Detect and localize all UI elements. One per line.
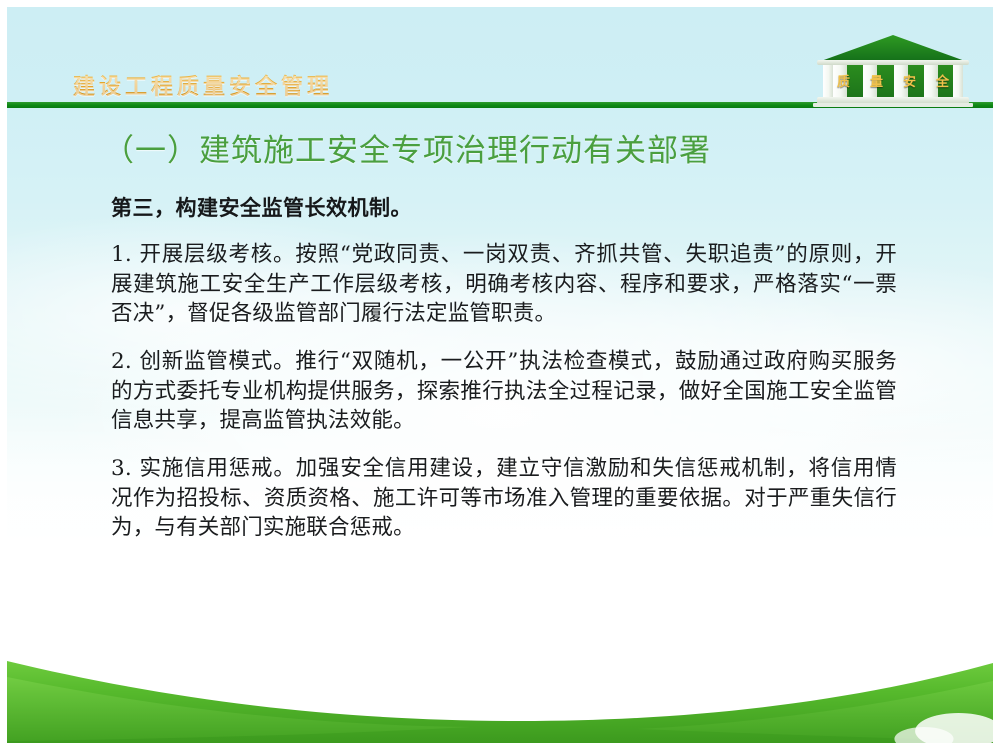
slide-header: 建设工程质量安全管理 <box>7 7 993 111</box>
grass-footer <box>7 603 993 743</box>
paragraph-item: 1. 开展层级考核。按照“党政同责、一岗双责、齐抓共管、失职追责”的原则，开展建… <box>7 240 993 329</box>
grass-illustration <box>7 603 993 743</box>
section-subtitle: 第三，构建安全监管长效机制。 <box>111 192 993 222</box>
slide-title: （一）建筑施工安全专项治理行动有关部署 <box>103 125 993 170</box>
paragraph-item: 3. 实施信用惩戒。加强安全信用建设，建立守信激励和失信惩戒机制，将信用情况作为… <box>7 454 993 543</box>
header-title: 建设工程质量安全管理 <box>73 69 333 101</box>
paragraph-item: 2. 创新监管模式。推行“双随机，一公开”执法检查模式，鼓励通过政府购买服务的方… <box>7 347 993 436</box>
temple-logo-icon <box>813 33 973 109</box>
paragraph-list: 1. 开展层级考核。按照“党政同责、一岗双责、齐抓共管、失职追责”的原则，开展建… <box>7 240 993 543</box>
slide-root: 建设工程质量安全管理 <box>0 0 1000 750</box>
quality-safety-logo: 质 量 安 全 <box>813 33 973 109</box>
slide-content: （一）建筑施工安全专项治理行动有关部署 第三，构建安全监管长效机制。 1. 开展… <box>7 111 993 623</box>
